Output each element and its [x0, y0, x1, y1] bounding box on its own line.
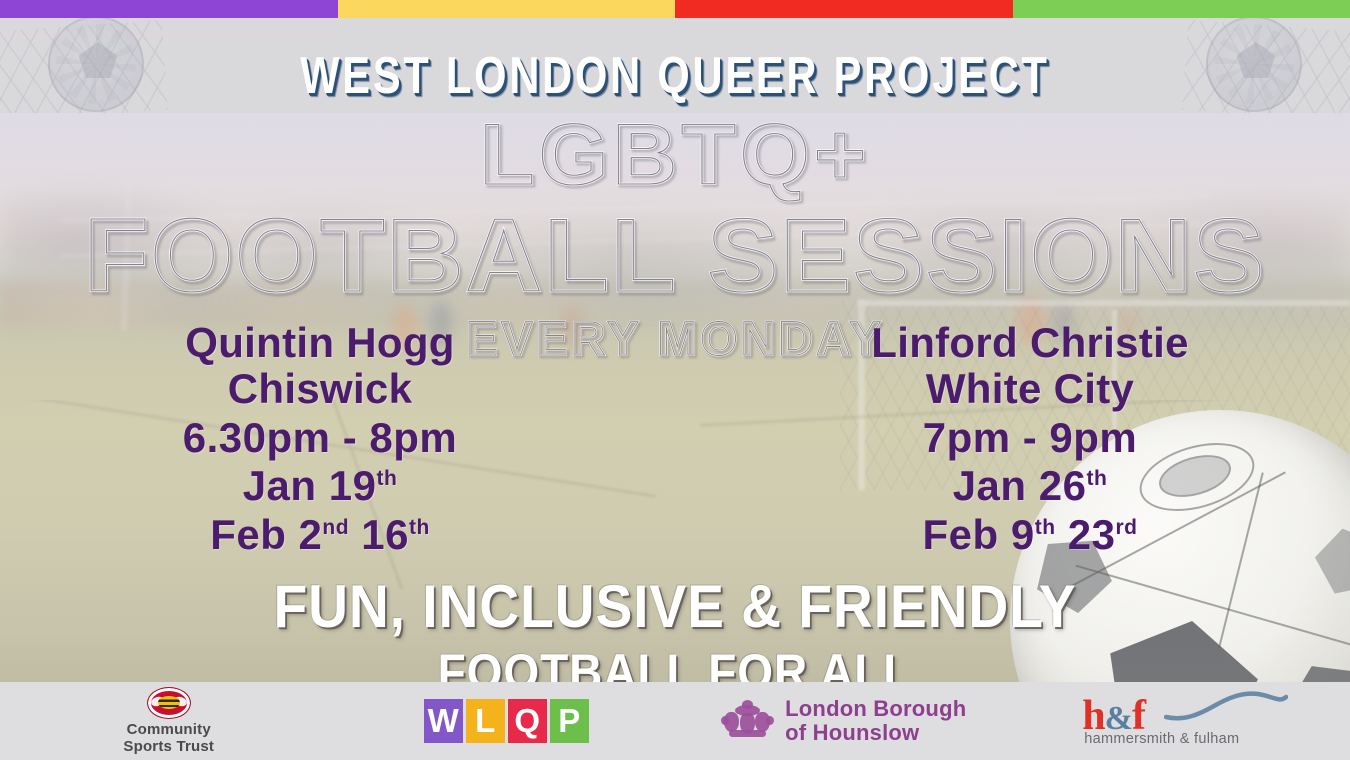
session-quintin-hogg: Quintin Hogg Chiswick 6.30pm - 8pm Jan 1…	[0, 322, 670, 557]
session-date-feb-first: Feb 9	[923, 511, 1035, 558]
logo-slot-wlqp: W L Q P	[338, 682, 676, 760]
session-area: Chiswick	[0, 368, 640, 411]
session-date-january: Jan 19th	[0, 465, 640, 508]
headline-football-inner: FOOTBALL SESSIONS	[0, 204, 1350, 308]
session-time: 6.30pm - 8pm	[0, 417, 640, 460]
logo-slot-brentford: Community Sports Trust	[0, 682, 338, 760]
hounslow-logo-line-2: of Hounslow	[785, 721, 966, 745]
wlqp-logo: W L Q P	[424, 699, 589, 743]
session-date-day: Jan 19	[243, 462, 377, 509]
sponsor-logo-bar: Community Sports Trust W L Q P	[0, 682, 1350, 760]
session-date-day: Jan 26	[953, 462, 1087, 509]
wlqp-letter-q: Q	[508, 699, 547, 743]
wlqp-letter-w: W	[424, 699, 463, 743]
session-date-january: Jan 26th	[710, 465, 1350, 508]
session-details: Quintin Hogg Chiswick 6.30pm - 8pm Jan 1…	[0, 322, 1350, 557]
hounslow-logo-line-1: London Borough	[785, 697, 966, 721]
tagline-line-1: FUN, INCLUSIVE & FRIENDLY	[54, 572, 1296, 641]
hounslow-logo-text: London Borough of Hounslow	[785, 697, 966, 745]
bee-icon	[158, 696, 180, 709]
session-date-february: Feb 9th 23rd	[710, 514, 1350, 557]
session-date-feb-second-ordinal: rd	[1115, 516, 1137, 539]
session-date-ordinal: th	[376, 467, 397, 490]
session-date-feb-first: Feb 2	[210, 511, 322, 558]
london-borough-of-hounslow-logo: London Borough of Hounslow	[721, 697, 966, 745]
brentford-logo-line-2: Sports Trust	[123, 739, 214, 756]
session-date-feb-first-ordinal: th	[1035, 516, 1056, 539]
session-date-feb-first-ordinal: nd	[322, 516, 349, 539]
header-football-left-icon	[48, 18, 144, 112]
poster-root: WEST LONDON QUEER PROJECT LGBTQ+ LGBTQ+ …	[0, 0, 1350, 760]
hammersmith-and-fulham-logo: h&f hammersmith & fulham	[1076, 693, 1286, 749]
stripe-purple	[0, 0, 338, 18]
hounslow-crest-icon	[721, 700, 773, 742]
session-date-ordinal: th	[1086, 467, 1107, 490]
hf-subtitle: hammersmith & fulham	[1084, 731, 1239, 747]
session-time: 7pm - 9pm	[710, 417, 1350, 460]
logo-slot-hounslow: London Borough of Hounslow	[675, 682, 1013, 760]
hf-wave-icon	[1164, 691, 1288, 725]
session-venue: Quintin Hogg	[0, 322, 640, 365]
stripe-green	[1013, 0, 1350, 18]
header-bar: WEST LONDON QUEER PROJECT	[0, 18, 1350, 113]
session-date-february: Feb 2nd 16th	[0, 514, 640, 557]
session-linford-christie: Linford Christie White City 7pm - 9pm Ja…	[670, 322, 1350, 557]
brentford-community-sports-trust-logo: Community Sports Trust	[123, 687, 214, 756]
header-football-right-icon	[1206, 18, 1302, 112]
headline-line-lgbtq: LGBTQ+ LGBTQ+	[0, 112, 1350, 198]
brentford-logo-line-1: Community	[123, 722, 214, 739]
brentford-logo-text: Community Sports Trust	[123, 722, 214, 756]
session-date-feb-second: 23	[1068, 511, 1116, 558]
logo-slot-hammersmith-fulham: h&f hammersmith & fulham	[1013, 682, 1350, 760]
session-date-feb-second: 16	[361, 511, 409, 558]
stripe-yellow	[338, 0, 676, 18]
session-venue: Linford Christie	[710, 322, 1350, 365]
headline-lgbtq-inner: LGBTQ+	[0, 112, 1350, 198]
brentford-crest-icon	[147, 687, 191, 719]
organisation-title: WEST LONDON QUEER PROJECT	[135, 46, 1215, 106]
pride-color-stripes	[0, 0, 1350, 18]
session-date-feb-second-ordinal: th	[409, 516, 430, 539]
headline-line-football-sessions: FOOTBALL SESSIONS FOOTBALL SESSIONS	[0, 204, 1350, 308]
wlqp-letter-p: P	[550, 699, 589, 743]
wlqp-letter-l: L	[466, 699, 505, 743]
session-area: White City	[710, 368, 1350, 411]
stripe-red	[675, 0, 1013, 18]
